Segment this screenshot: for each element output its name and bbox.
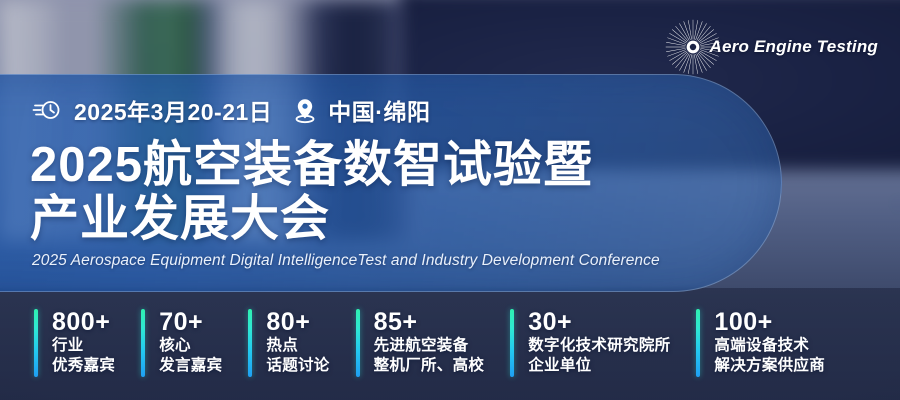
stats-strip: 800+ 行业 优秀嘉宾 70+ 核心 发言嘉宾 80+ 热点 [34, 309, 825, 377]
stat-label-line-1: 高端设备技术 [714, 336, 825, 356]
event-date: 2025年3月20-21日 [74, 93, 272, 127]
stat-item: 100+ 高端设备技术 解决方案供应商 [696, 309, 825, 377]
stat-number: 30+ [528, 309, 670, 336]
stat-number: 70+ [159, 309, 222, 336]
stat-number: 100+ [714, 309, 825, 336]
stat-item: 30+ 数字化技术研究院所 企业单位 [510, 309, 670, 377]
stat-item: 85+ 先进航空装备 整机厂所、高校 [356, 309, 485, 377]
stat-label-line-1: 数字化技术研究院所 [528, 336, 670, 356]
banner-content: 2025年3月20-21日 中国·绵阳 2025航空装备数智试验暨 产业发展大会… [0, 0, 900, 400]
stat-item: 800+ 行业 优秀嘉宾 [34, 309, 115, 377]
conference-banner: 2025年3月20-21日 中国·绵阳 2025航空装备数智试验暨 产业发展大会… [0, 0, 900, 400]
stat-label-line-2: 话题讨论 [266, 356, 329, 376]
stat-label-line-1: 热点 [266, 336, 329, 356]
stat-label-line-1: 先进航空装备 [374, 336, 485, 356]
stat-label-line-1: 核心 [159, 336, 222, 356]
stat-label-line-2: 优秀嘉宾 [52, 356, 115, 376]
map-pin-icon [292, 96, 318, 124]
title-line-2: 产业发展大会 [30, 192, 710, 246]
stat-label-line-2: 发言嘉宾 [159, 356, 222, 376]
stat-divider-bar [356, 309, 360, 377]
stat-label-line-1: 行业 [52, 336, 115, 356]
stat-divider-bar [248, 309, 252, 377]
stat-label-line-2: 企业单位 [528, 356, 670, 376]
stat-number: 800+ [52, 309, 115, 336]
event-meta: 2025年3月20-21日 中国·绵阳 [32, 92, 430, 128]
stat-divider-bar [141, 309, 145, 377]
brand-wordmark: Aero Engine Testing [710, 37, 878, 57]
stat-number: 85+ [374, 309, 485, 336]
stat-item: 80+ 热点 话题讨论 [248, 309, 329, 377]
title-line-1: 2025航空装备数智试验暨 [30, 138, 710, 192]
stat-item: 70+ 核心 发言嘉宾 [141, 309, 222, 377]
stat-divider-bar [34, 309, 38, 377]
event-location: 中国·绵阳 [328, 93, 430, 127]
page-subtitle: 2025 Aerospace Equipment Digital Intelli… [32, 252, 732, 270]
stat-divider-bar [696, 309, 700, 377]
clock-speed-icon [32, 96, 62, 124]
stat-divider-bar [510, 309, 514, 377]
page-title: 2025航空装备数智试验暨 产业发展大会 [30, 138, 710, 246]
brand-logo: Aero Engine Testing [664, 18, 878, 76]
stat-number: 80+ [266, 309, 329, 336]
stat-label-line-2: 整机厂所、高校 [374, 356, 485, 376]
stat-label-line-2: 解决方案供应商 [714, 356, 825, 376]
